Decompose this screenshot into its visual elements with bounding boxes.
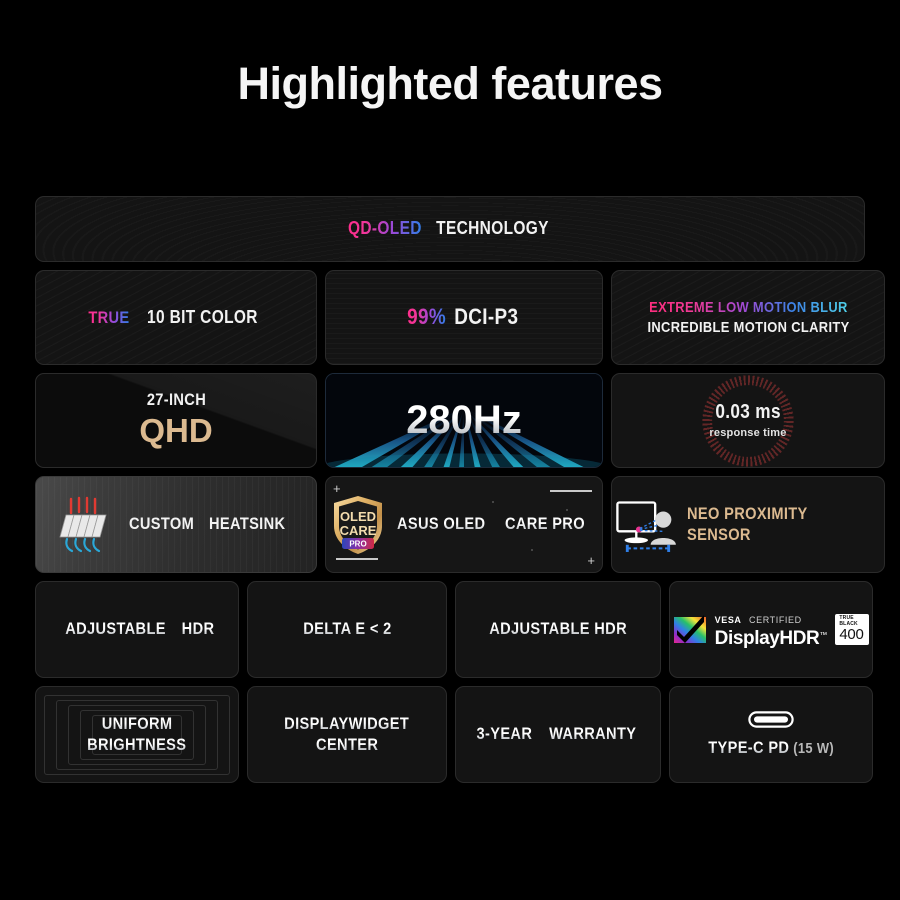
svg-text:OLED: OLED <box>340 509 376 524</box>
refresh-rate-label: 280Hz <box>406 396 522 445</box>
row-features: CUSTOM HEATSINK + + <box>35 476 865 573</box>
card-uniform-brightness[interactable]: UNIFORM BRIGHTNESS <box>35 686 239 783</box>
page-title: Highlighted features <box>0 58 900 110</box>
percent-99-label: 99% <box>407 304 446 331</box>
heatsink-icon <box>54 495 116 555</box>
row-panel: 27-INCH QHD <box>35 373 865 468</box>
qd-oled-label: QD-OLED <box>348 218 422 240</box>
qhd-label: QHD <box>139 411 212 451</box>
card-response-time[interactable]: 0.03 ms response time <box>611 373 885 468</box>
card-adjustable-hdr-1[interactable]: ADJUSTABLE HDR <box>35 581 239 678</box>
type-c-pd-label: TYPE-C PD <box>708 738 789 757</box>
ten-bit-color-label: 10 BIT COLOR <box>147 307 258 329</box>
technology-label: TECHNOLOGY <box>437 218 550 240</box>
true-label: TRUE <box>89 308 130 329</box>
incredible-motion-clarity-label: INCREDIBLE MOTION CLARITY <box>647 319 849 337</box>
true-black-400-badge: TRUE BLACK 400 <box>835 614 869 645</box>
oled-care-shield-icon: OLED CARE PRO <box>330 494 386 556</box>
screen-size-label: 27-INCH <box>146 390 205 411</box>
row-color: TRUE 10 BIT COLOR 99% DCI-P3 EXTREME LOW… <box>35 270 865 365</box>
card-qd-oled-technology[interactable]: QD-OLED TECHNOLOGY <box>35 196 865 262</box>
uniform-label: UNIFORM <box>102 714 173 735</box>
card-vesa-displayhdr[interactable]: VESA CERTIFIED DisplayHDR™ TRUE BLACK 40… <box>669 581 873 678</box>
asus-oled-label: ASUS OLED <box>397 514 485 535</box>
card-adjustable-hdr-2[interactable]: ADJUSTABLE HDR <box>455 581 661 678</box>
svg-text:CARE: CARE <box>340 523 377 538</box>
dci-p3-label: DCI-P3 <box>455 304 519 331</box>
row-technology: QD-OLED TECHNOLOGY <box>35 196 865 262</box>
response-time-caption: response time <box>709 427 786 440</box>
card-warranty[interactable]: 3-YEAR WARRANTY <box>455 686 661 783</box>
vesa-label: VESA <box>715 615 742 625</box>
neo-proximity-label: NEO PROXIMITY <box>687 504 808 525</box>
vesa-rainbow-check-icon <box>673 614 707 646</box>
card-neo-proximity-sensor[interactable]: NEO PROXIMITY SENSOR <box>611 476 885 573</box>
adjustable-label-1: ADJUSTABLE <box>65 619 166 640</box>
card-true-10-bit-color[interactable]: TRUE 10 BIT COLOR <box>35 270 317 365</box>
heatsink-label: HEATSINK <box>209 514 285 535</box>
adjustable-hdr-label-2: ADJUSTABLE HDR <box>489 619 627 640</box>
brightness-label: BRIGHTNESS <box>87 735 186 756</box>
trademark-symbol: ™ <box>819 631 827 640</box>
response-time-value: 0.03 ms <box>715 400 781 424</box>
plus-corner-icon-bottomright: + <box>587 554 595 567</box>
displaywidget-label: DISPLAYWIDGET <box>285 714 410 735</box>
card-asus-oled-care-pro[interactable]: + + <box>325 476 603 573</box>
card-custom-heatsink[interactable]: CUSTOM HEATSINK <box>35 476 317 573</box>
accent-line-top <box>550 490 592 492</box>
card-displaywidget-center[interactable]: DISPLAYWIDGET CENTER <box>247 686 447 783</box>
card-refresh-rate[interactable]: 280Hz <box>325 373 603 468</box>
hdr-level-label: 400 <box>839 627 865 642</box>
sensor-label: SENSOR <box>687 525 751 546</box>
usb-type-c-port-icon <box>748 711 794 728</box>
feature-grid: QD-OLED TECHNOLOGY TRUE 10 BIT COLOR 99%… <box>35 196 865 791</box>
highlighted-features-page: Highlighted features QD-OLED TECHNOLOGY … <box>0 0 900 900</box>
extreme-low-motion-blur-label: EXTREME LOW MOTION BLUR <box>649 299 848 317</box>
card-qhd[interactable]: 27-INCH QHD <box>35 373 317 468</box>
type-c-watts-label: (15 W) <box>789 740 834 757</box>
accent-line-bottom <box>336 558 378 560</box>
row-hdr: ADJUSTABLE HDR DELTA E < 2 ADJUSTABLE HD… <box>35 581 865 678</box>
three-year-label: 3-YEAR <box>477 724 533 745</box>
delta-e-label: DELTA E < 2 <box>303 619 391 640</box>
displayhdr-label: DisplayHDR <box>715 628 820 649</box>
warranty-label: WARRANTY <box>549 724 636 745</box>
certified-label: CERTIFIED <box>749 615 802 625</box>
svg-text:PRO: PRO <box>350 539 367 548</box>
hdr-label-1: HDR <box>182 619 215 640</box>
center-label: CENTER <box>316 735 378 756</box>
card-type-c-pd[interactable]: TYPE-C PD (15 W) <box>669 686 873 783</box>
care-pro-label: CARE PRO <box>505 514 585 535</box>
proximity-sensor-icon <box>612 494 677 556</box>
card-motion-blur[interactable]: EXTREME LOW MOTION BLUR INCREDIBLE MOTIO… <box>611 270 885 365</box>
row-extras: UNIFORM BRIGHTNESS DISPLAYWIDGET CENTER … <box>35 686 865 783</box>
card-delta-e[interactable]: DELTA E < 2 <box>247 581 447 678</box>
custom-label: CUSTOM <box>129 514 194 535</box>
card-dci-p3[interactable]: 99% DCI-P3 <box>325 270 603 365</box>
